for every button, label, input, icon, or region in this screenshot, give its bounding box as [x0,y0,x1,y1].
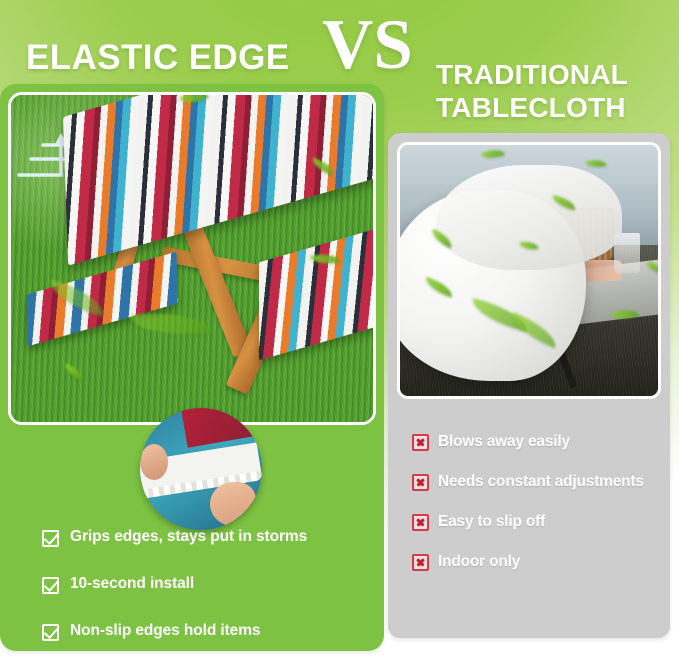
red-fabric [181,408,257,448]
list-item: 10-second install [42,575,372,594]
versus-label: VS [322,10,413,81]
hand-thumb-right [210,482,256,526]
list-item: Blows away easily [412,433,664,451]
cons-item-label: Indoor only [438,553,520,571]
cross-box-icon [412,514,429,531]
list-item: Grips edges, stays put in storms [42,528,372,547]
cons-item-label: Needs constant adjustments [438,473,644,491]
cons-panel: Blows away easily Needs constant adjustm… [388,133,670,638]
pros-item-label: 10-second install [70,575,194,594]
cons-item-label: Blows away easily [438,433,570,451]
traditional-line-1: TRADITIONAL [436,58,628,91]
list-item: Needs constant adjustments [412,473,664,491]
checkbox-checked-icon [42,577,59,594]
hand-thumb-left [140,444,168,480]
pros-list: Grips edges, stays put in storms 10-seco… [42,528,372,665]
white-tablecloth-upper-fold [436,165,622,270]
pros-panel: Grips edges, stays put in storms 10-seco… [0,84,384,651]
checkbox-checked-icon [42,530,59,547]
page-title-elastic-edge: ELASTIC EDGE [26,38,289,78]
traditional-tablecloth-photo [397,142,661,399]
checkbox-checked-icon [42,624,59,641]
elastic-hem-closeup-inset [140,408,262,530]
cross-box-icon [412,474,429,491]
list-item: Non-slip edges hold items [42,622,372,641]
list-item: Indoor only [412,553,664,571]
traditional-line-2: TABLECLOTH [436,91,628,124]
list-item: Easy to slip off [412,513,664,531]
comparison-infographic: ELASTIC EDGE VS TRADITIONAL TABLECLOTH [0,0,679,665]
cross-box-icon [412,434,429,451]
elastic-edge-product-photo [8,92,376,425]
pros-item-label: Grips edges, stays put in storms [70,528,307,547]
cons-item-label: Easy to slip off [438,513,545,531]
cons-list: Blows away easily Needs constant adjustm… [412,433,664,571]
pros-item-label: Non-slip edges hold items [70,622,260,641]
page-title-traditional-tablecloth: TRADITIONAL TABLECLOTH [436,58,628,124]
cross-box-icon [412,554,429,571]
